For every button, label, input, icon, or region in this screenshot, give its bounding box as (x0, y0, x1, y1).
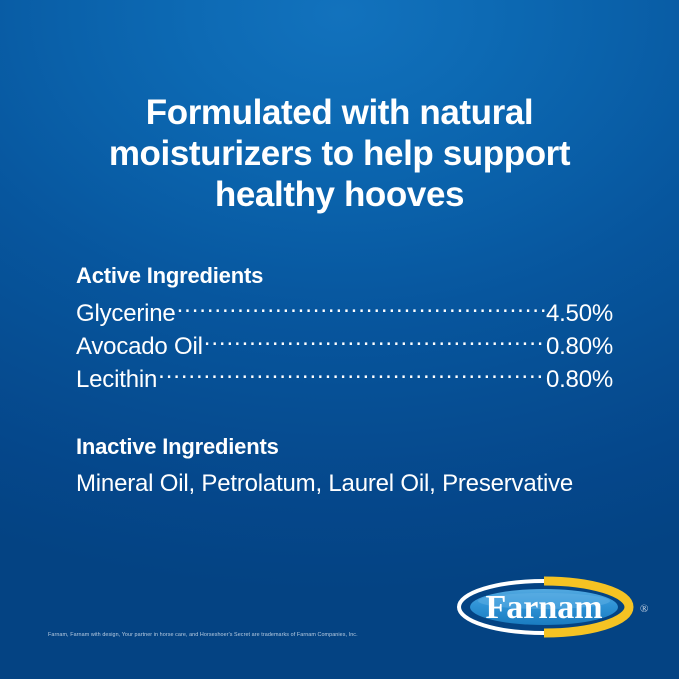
ingredient-name: Lecithin (76, 363, 157, 396)
ingredient-value: 0.80% (546, 363, 613, 396)
ingredient-value: 0.80% (546, 330, 613, 363)
list-item: Glycerine 4.50% (76, 297, 613, 330)
dot-leader (177, 297, 545, 321)
active-ingredients-list: Glycerine 4.50% Avocado Oil 0.80% Lecith… (76, 297, 613, 396)
inactive-ingredients-heading: Inactive Ingredients (76, 433, 613, 461)
inactive-ingredients-block: Inactive Ingredients Mineral Oil, Petrol… (76, 433, 613, 500)
ingredient-value: 4.50% (546, 297, 613, 330)
inactive-ingredients-text: Mineral Oil, Petrolatum, Laurel Oil, Pre… (76, 467, 613, 500)
legal-trademark-notice: Farnam, Farnam with design, Your partner… (48, 631, 358, 639)
farnam-logo-icon: Farnam (452, 576, 652, 638)
page-title: Formulated with natural moisturizers to … (0, 92, 679, 215)
headline-line-2: moisturizers to help support (60, 133, 619, 174)
ingredients-panel: Active Ingredients Glycerine 4.50% Avoca… (76, 262, 613, 500)
list-item: Avocado Oil 0.80% (76, 330, 613, 363)
list-item: Lecithin 0.80% (76, 363, 613, 396)
headline-line-3: healthy hooves (60, 174, 619, 215)
farnam-logo: Farnam ® (452, 576, 652, 638)
headline-line-1: Formulated with natural (60, 92, 619, 133)
farnam-wordmark: Farnam (485, 589, 602, 626)
product-ingredient-panel: Formulated with natural moisturizers to … (0, 0, 679, 679)
dot-leader (158, 363, 545, 387)
ingredient-name: Glycerine (76, 297, 176, 330)
registered-trademark-icon: ® (640, 604, 648, 615)
active-ingredients-heading: Active Ingredients (76, 262, 613, 290)
dot-leader (204, 330, 545, 354)
ingredient-name: Avocado Oil (76, 330, 203, 363)
